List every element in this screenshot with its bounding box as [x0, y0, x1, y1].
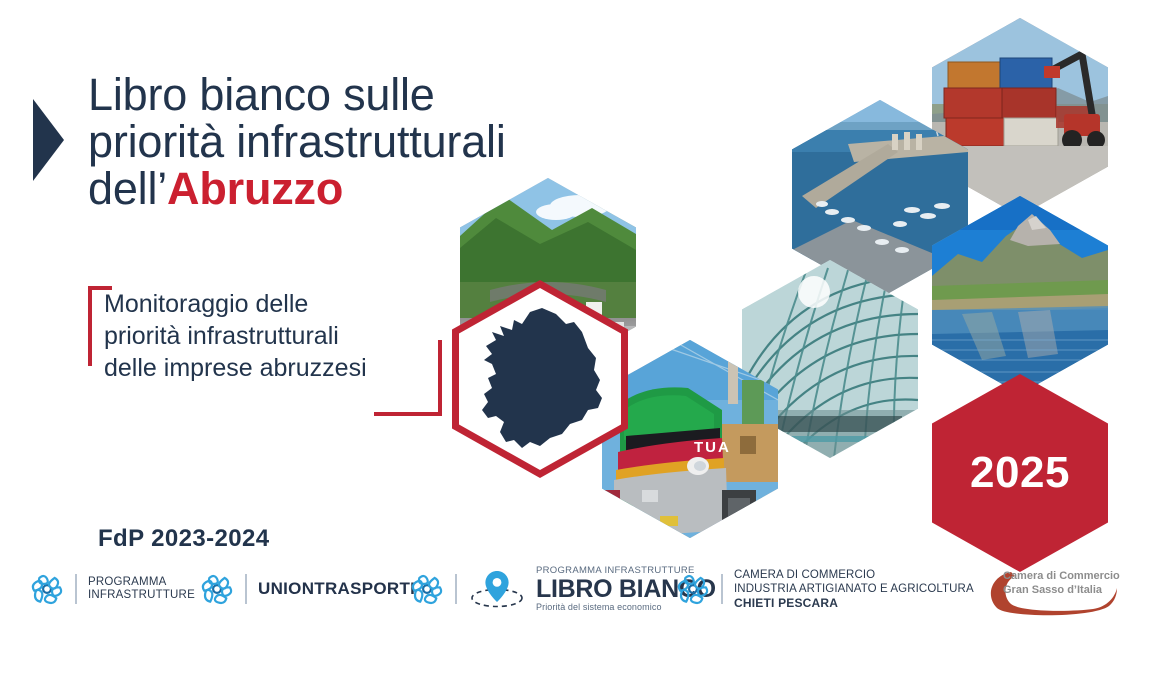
logo-line-2: INFRASTRUTTURE: [88, 589, 195, 602]
uniontrasporti-wordmark: UNIONTRASPORTI: [258, 579, 415, 599]
cc-line-1: CAMERA DI COMMERCIO: [734, 568, 974, 582]
subtitle-line-2: priorità infrastrutturali: [104, 322, 339, 350]
footer-logo-bar: PROGRAMMA INFRASTRUTTURE UNIONTRASPORTI: [0, 558, 1160, 630]
logo-divider: [245, 574, 247, 604]
year-badge-label: 2025: [932, 374, 1108, 572]
svg-text:TUA: TUA: [694, 439, 731, 456]
knot-icon: [30, 572, 64, 606]
page-title-highlight: Abruzzo: [167, 163, 343, 214]
abruzzo-map-icon: [470, 306, 610, 456]
year-hexagon: 2025: [932, 374, 1108, 572]
camera-commercio-gran-sasso-logo: Camera di Commercio Gran Sasso d’Italia: [975, 566, 1145, 622]
camera-commercio-chieti-pescara-logo: CAMERA DI COMMERCIO INDUSTRIA ARTIGIANAT…: [676, 568, 974, 611]
page-title-line-3-prefix: dell’: [88, 163, 167, 214]
libro-bianco-logo: PROGRAMMA INFRASTRUTTURE LIBRO BIANCO Pr…: [410, 566, 716, 613]
hexagon-cluster: TUA 2025: [440, 18, 1160, 558]
subtitle-line-3: delle imprese abruzzesi: [104, 354, 367, 382]
bracket-left: [88, 286, 92, 366]
subtitle-text: Monitoraggio delle priorità infrastruttu…: [104, 288, 444, 384]
uniontrasporti-logo: UNIONTRASPORTI: [200, 572, 415, 606]
map-pin-icon: [468, 568, 526, 610]
triangle-right-icon: [33, 99, 64, 181]
gs-line-1: Camera di Commercio: [1003, 570, 1120, 584]
edition-label: FdP 2023-2024: [98, 525, 270, 553]
logo-line-1: PROGRAMMA: [88, 576, 195, 589]
logo-divider: [455, 574, 457, 604]
bracket-bottom-right: [374, 412, 442, 416]
poster-canvas: Libro bianco sulle priorità infrastruttu…: [0, 0, 1160, 673]
programma-infrastrutture-logo: PROGRAMMA INFRASTRUTTURE: [30, 572, 195, 606]
subtitle-block: Monitoraggio delle priorità infrastruttu…: [88, 286, 460, 416]
cc-line-2: INDUSTRIA ARTIGIANATO E AGRICOLTURA: [734, 582, 974, 596]
cc-line-3: CHIETI PESCARA: [734, 596, 974, 611]
gs-line-2: Gran Sasso d’Italia: [1003, 584, 1120, 598]
camera-commercio-text: CAMERA DI COMMERCIO INDUSTRIA ARTIGIANAT…: [734, 568, 974, 611]
knot-icon: [410, 572, 444, 606]
logo-divider: [721, 574, 723, 604]
programma-infrastrutture-text: PROGRAMMA INFRASTRUTTURE: [88, 576, 195, 602]
page-title-line-1: Libro bianco sulle: [88, 69, 435, 120]
gran-sasso-text: Camera di Commercio Gran Sasso d’Italia: [1003, 570, 1120, 598]
knot-icon: [676, 572, 710, 606]
logo-divider: [75, 574, 77, 604]
subtitle-line-1: Monitoraggio delle: [104, 290, 308, 318]
knot-icon: [200, 572, 234, 606]
